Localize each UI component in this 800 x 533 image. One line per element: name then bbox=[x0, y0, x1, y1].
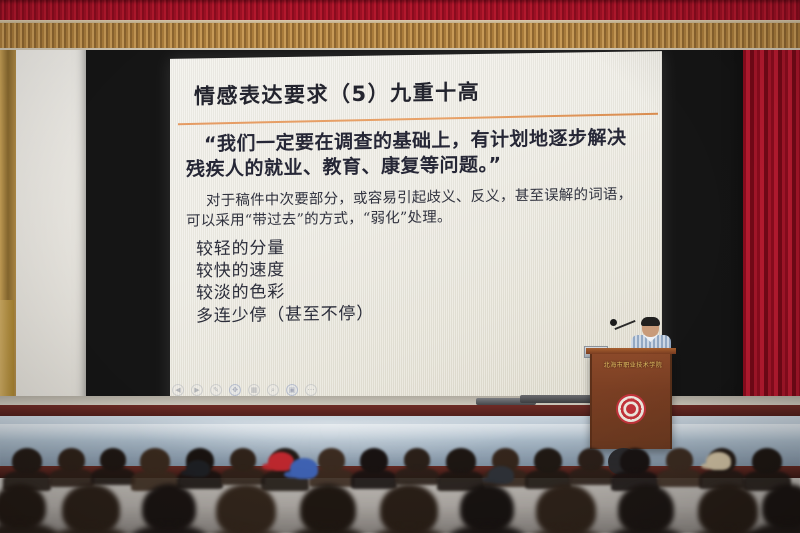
curtain-left-gold-fold bbox=[0, 300, 14, 404]
slide-quote: “我们一定要在调查的基础上，有计划地逐步解决残疾人的就业、教育、康复等问题。” bbox=[186, 125, 648, 183]
audience-area bbox=[0, 440, 800, 533]
next-slide-button[interactable]: ▶ bbox=[191, 384, 203, 396]
audience-head-front bbox=[698, 484, 758, 533]
audience-shoulders-front bbox=[520, 528, 612, 533]
stage-curtain-right bbox=[743, 0, 800, 404]
presenter-view-button[interactable]: ▣ bbox=[286, 384, 298, 396]
lecture-hall-scene: 情感表达要求（5）九重十高 “我们一定要在调查的基础上，有计划地逐步解决残疾人的… bbox=[0, 0, 800, 533]
audience-head-front bbox=[216, 484, 276, 533]
audience-dark-cap bbox=[488, 466, 514, 484]
more-options-button[interactable]: ⋯ bbox=[305, 384, 317, 396]
audience-shoulders-front bbox=[284, 526, 372, 533]
speaking-podium: 北海市职业技术学院 校徽 bbox=[590, 352, 672, 449]
pointer-options-button[interactable]: ✥ bbox=[229, 384, 241, 396]
audience-shoulders-front bbox=[46, 526, 136, 533]
audience-shoulders bbox=[221, 467, 265, 485]
slide-overview-button[interactable]: ▦ bbox=[248, 384, 260, 396]
slide-title: 情感表达要求（5）九重十高 bbox=[186, 73, 648, 110]
audience-shoulders bbox=[351, 469, 397, 489]
audience-shoulders bbox=[395, 467, 439, 485]
audience-shoulders bbox=[657, 468, 702, 487]
pen-tool-button[interactable]: ✎ bbox=[210, 384, 222, 396]
audience-shoulders-front bbox=[200, 528, 292, 533]
podium-sign-text: 北海市职业技术学院 bbox=[592, 360, 674, 369]
audience-shoulders bbox=[569, 467, 613, 485]
microphone-icon bbox=[610, 319, 617, 326]
audience-shoulders-front bbox=[602, 526, 690, 533]
school-emblem-icon: 校徽 bbox=[616, 394, 646, 424]
podium-top-surface bbox=[586, 348, 676, 354]
audience-blue-cap bbox=[290, 458, 318, 479]
slide-bullet-list: 较轻的分量 较快的速度 较淡的色彩 多连少停（甚至不停） bbox=[186, 231, 648, 328]
stage-valance bbox=[0, 0, 800, 22]
powerpoint-presentation-toolbar[interactable]: ◀ ▶ ✎ ✥ ▦ ⌕ ▣ ⋯ bbox=[172, 384, 317, 396]
audience-head-front bbox=[380, 484, 438, 533]
speaker-hair bbox=[641, 317, 660, 326]
audience-beige-cap bbox=[706, 452, 731, 470]
audience-shoulders-front bbox=[364, 527, 454, 533]
stage-upper-trim bbox=[0, 396, 800, 405]
emblem-label: 校徽 bbox=[618, 398, 644, 403]
previous-slide-button[interactable]: ◀ bbox=[172, 384, 184, 396]
slide-body-paragraph: 对于稿件中次要部分，或容易引起歧义、反义，甚至误解的词语，可以采用“带过去”的方… bbox=[186, 184, 648, 231]
audience-shoulders-front bbox=[444, 524, 530, 533]
wall-left-of-screen bbox=[16, 50, 88, 404]
stage-red-trim bbox=[0, 405, 800, 416]
gold-pleated-band bbox=[0, 23, 800, 50]
audience-head-front bbox=[536, 484, 596, 533]
projected-slide[interactable]: 情感表达要求（5）九重十高 “我们一定要在调查的基础上，有计划地逐步解决残疾人的… bbox=[170, 51, 662, 434]
audience-shoulders-front bbox=[126, 524, 212, 533]
zoom-button[interactable]: ⌕ bbox=[267, 384, 279, 396]
audience-black-cap bbox=[186, 460, 210, 477]
audience-shoulders bbox=[91, 467, 135, 485]
audience-shoulders-front bbox=[0, 522, 62, 533]
